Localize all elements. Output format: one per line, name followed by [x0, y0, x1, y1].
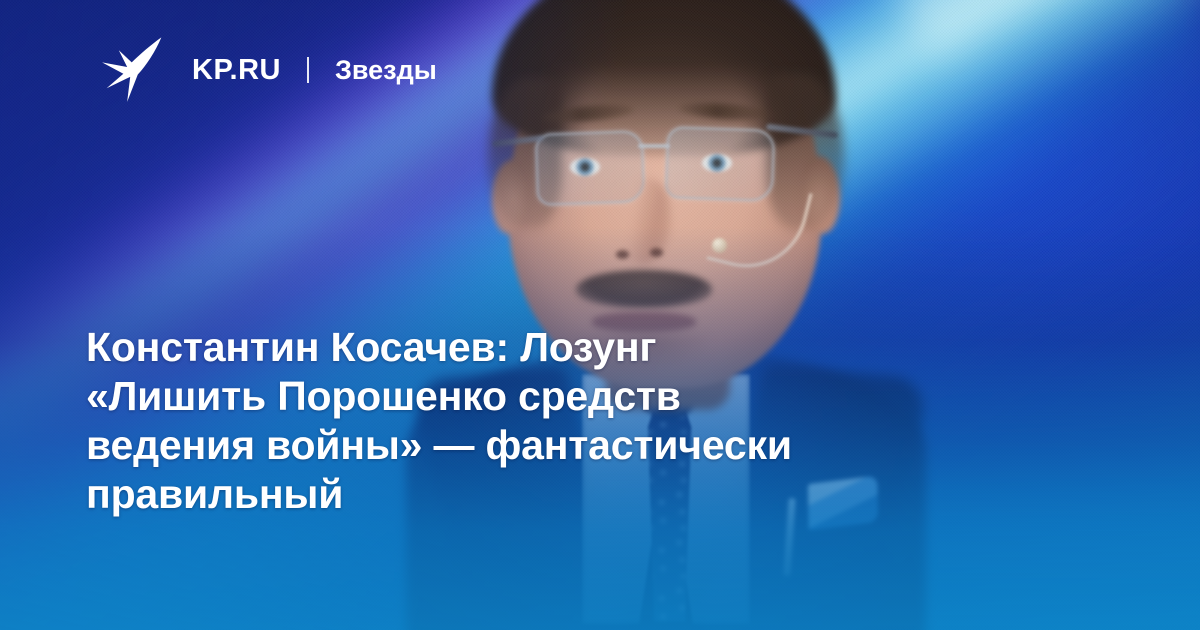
headline-line-2: «Лишить Порошенко средств — [86, 372, 1096, 421]
headline-line-1: Константин Косачев: Лозунг — [86, 323, 1096, 372]
page-title: Константин Косачев: Лозунг «Лишить Порош… — [86, 323, 1096, 519]
header-divider — [307, 57, 309, 83]
headline-line-4: правильный — [86, 470, 1096, 519]
nostril-right — [650, 248, 663, 257]
headline-line-3: ведения войны» — фантастически — [86, 421, 1096, 470]
brand-name[interactable]: KP.RU — [192, 54, 281, 87]
person-portrait — [430, 0, 900, 630]
moustache — [576, 270, 712, 308]
nostril-left — [616, 250, 629, 259]
swallow-bird-logo-icon[interactable] — [96, 32, 172, 108]
card-header: KP.RU Звезды — [96, 32, 437, 108]
social-share-card: KP.RU Звезды Константин Косачев: Лозунг … — [0, 0, 1200, 630]
eyeglasses-bridge — [638, 144, 670, 148]
section-name[interactable]: Звезды — [335, 55, 437, 86]
headset-microphone-capsule — [712, 238, 727, 253]
